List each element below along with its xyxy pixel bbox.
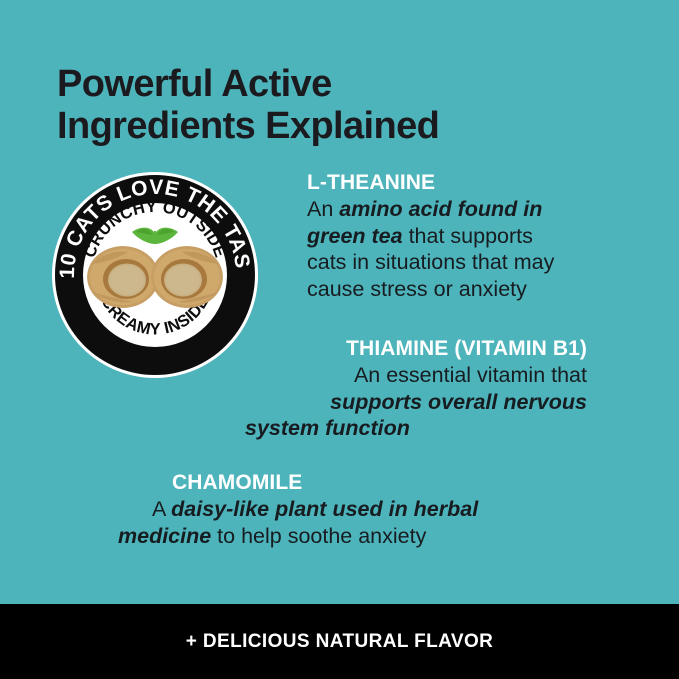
ingredient-line: cats in situations that may	[307, 249, 637, 276]
ingredient-line: supports overall nervous	[245, 389, 587, 416]
ingredient-heading-chamomile: CHAMOMILE	[118, 470, 536, 496]
product-infographic: Powerful Active Ingredients Explained 9/…	[0, 0, 679, 679]
ingredient-block-thiamine: THIAMINE (VITAMIN B1) An essential vitam…	[245, 336, 587, 442]
ingredient-body-l-theanine: An amino acid found in green tea that su…	[307, 196, 637, 302]
ingredient-heading-l-theanine: L-THEANINE	[307, 170, 637, 196]
ingredient-line: An amino acid found in	[307, 196, 637, 223]
ingredient-heading-thiamine: THIAMINE (VITAMIN B1)	[245, 336, 587, 362]
ingredient-body-chamomile: A daisy-like plant used in herbal medici…	[118, 496, 536, 549]
ingredient-line: medicine to help soothe anxiety	[118, 523, 536, 550]
page-title-line-2: Ingredients Explained	[57, 105, 617, 147]
ingredient-line: green tea that supports	[307, 223, 637, 250]
footer-text: + DELICIOUS NATURAL FLAVOR	[186, 631, 494, 653]
ingredient-block-chamomile: CHAMOMILE A daisy-like plant used in her…	[118, 470, 536, 549]
taste-seal-badge: 9/10 CATS LOVE THE TASTE CRUNCHY OUTSIDE…	[52, 172, 258, 378]
ingredient-block-l-theanine: L-THEANINE An amino acid found in green …	[307, 170, 637, 302]
footer-bar: + DELICIOUS NATURAL FLAVOR	[0, 604, 679, 679]
ingredient-line: system function	[245, 415, 587, 442]
ingredient-line: A daisy-like plant used in herbal	[118, 496, 536, 523]
page-title: Powerful Active Ingredients Explained	[57, 63, 617, 147]
ingredient-line: An essential vitamin that	[245, 362, 587, 389]
page-title-line-1: Powerful Active	[57, 63, 617, 105]
ingredient-body-thiamine: An essential vitamin that supports overa…	[245, 362, 587, 442]
ingredient-line: cause stress or anxiety	[307, 276, 637, 303]
